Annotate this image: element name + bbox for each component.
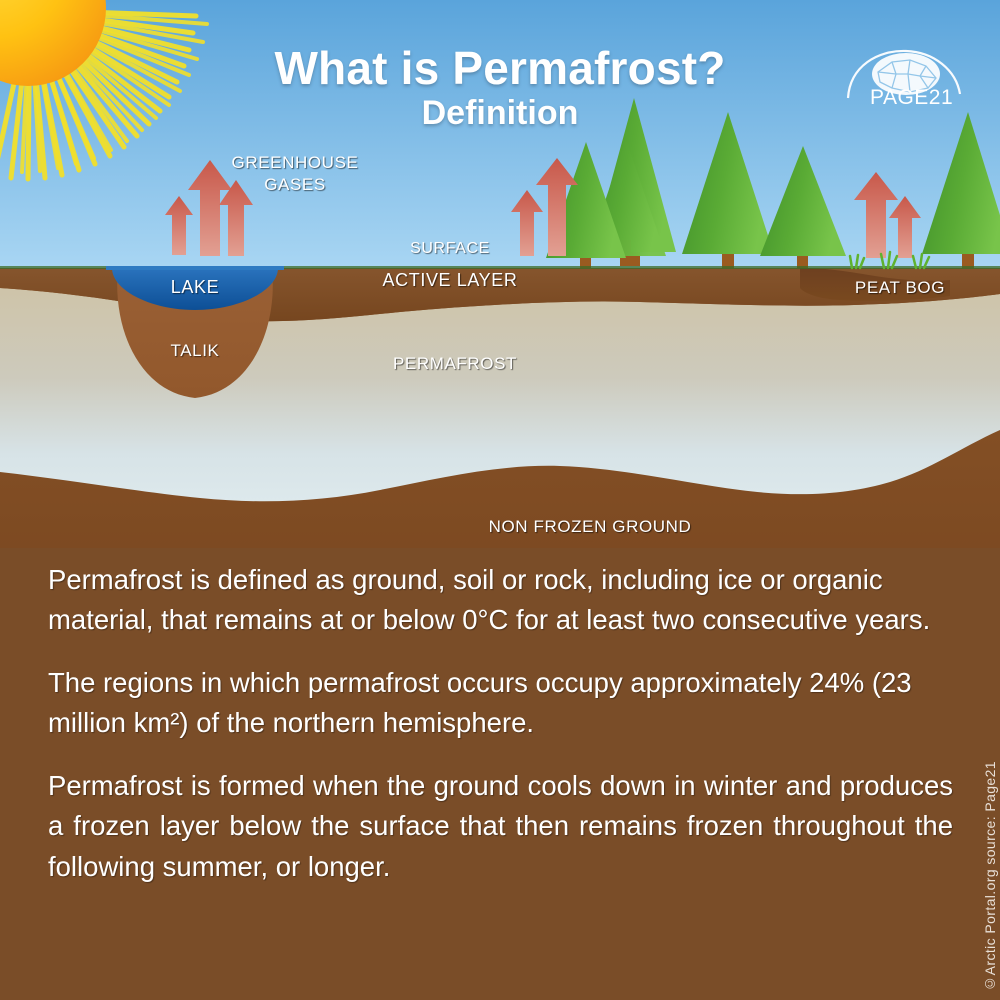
- label-greenhouse-gases-line2: GASES: [205, 174, 385, 196]
- definition-text-panel: Permafrost is defined as ground, soil or…: [0, 548, 1000, 1000]
- credit-text: ©Arctic Portal.org source: Page21: [982, 761, 998, 992]
- label-greenhouse-gases-line1: GREENHOUSE: [205, 152, 385, 174]
- label-lake: LAKE: [140, 277, 250, 298]
- definition-paragraph-1: Permafrost is defined as ground, soil or…: [48, 560, 956, 641]
- definition-paragraph-2: The regions in which permafrost occurs o…: [48, 663, 956, 744]
- label-talik: TALIK: [140, 341, 250, 361]
- label-non-frozen-ground: NON FROZEN GROUND: [440, 517, 740, 537]
- label-permafrost: PERMAFROST: [360, 354, 550, 374]
- logo-text: PAGE21: [870, 86, 953, 110]
- definition-paragraph-3: Permafrost is formed when the ground coo…: [48, 766, 953, 887]
- lake-surface: [106, 266, 284, 270]
- label-active-layer: ACTIVE LAYER: [350, 270, 550, 291]
- permafrost-infographic-poster: What is Permafrost? Definition PAGE21 GR…: [0, 0, 1000, 1000]
- page21-logo: PAGE21: [844, 48, 972, 118]
- label-peat-bog: PEAT BOG: [830, 278, 970, 298]
- label-surface: SURFACE: [360, 240, 540, 258]
- label-greenhouse-gases: GREENHOUSE GASES: [205, 152, 385, 196]
